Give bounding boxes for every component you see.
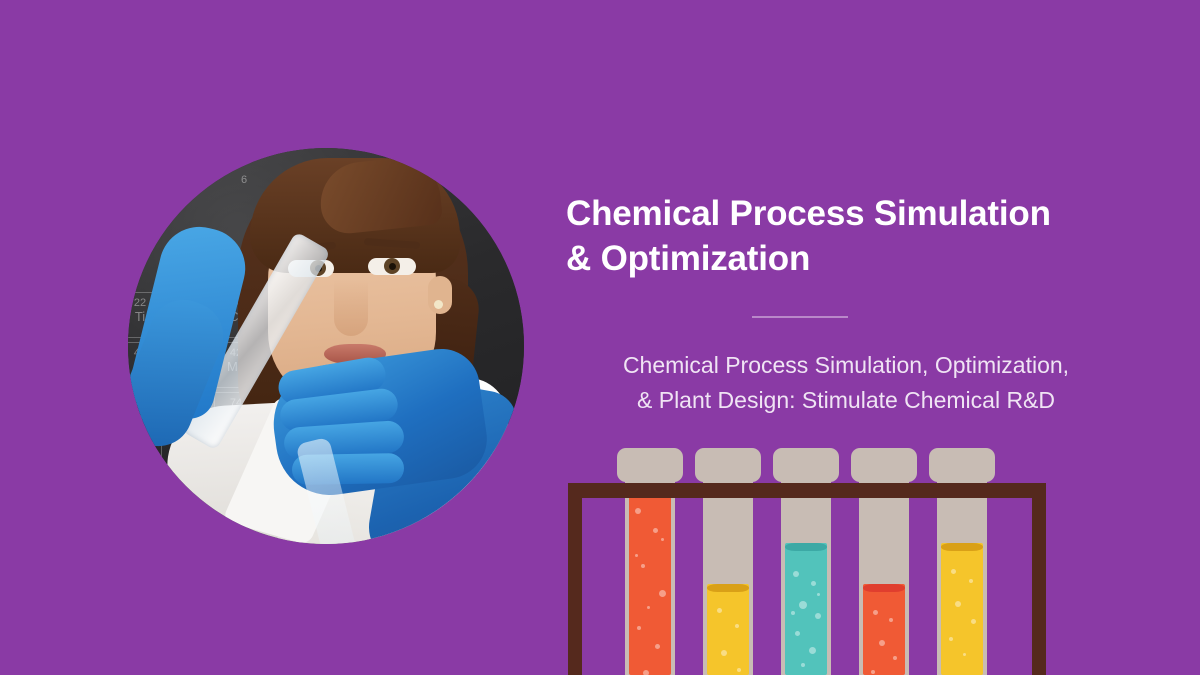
liquid-bubble (879, 640, 885, 646)
liquid-bubble (641, 564, 645, 568)
slide-canvas: 22Ti 23V 24Cr 40Zr 41Nb 42Mo 72Hf 73Ta 7… (0, 0, 1200, 675)
test-tube-lip (695, 448, 761, 482)
liquid-bubble (717, 608, 722, 613)
liquid-bubble (737, 668, 741, 672)
liquid-bubble (721, 650, 727, 656)
rack-horizontal-bar (568, 483, 1046, 498)
rack-right-post (1032, 483, 1046, 675)
liquid-surface (707, 584, 749, 592)
liquid-bubble (637, 626, 641, 630)
liquid-bubble (643, 670, 649, 675)
liquid-bubble (871, 670, 875, 674)
test-tube-lip (929, 448, 995, 482)
liquid-bubble (963, 653, 966, 656)
liquid-bubble (971, 619, 976, 624)
test-tube-lip (773, 448, 839, 482)
liquid-surface (863, 584, 905, 592)
test-tube-liquid (629, 484, 671, 675)
liquid-bubble (659, 590, 666, 597)
test-tube-rack (560, 440, 1060, 675)
test-tube-lip (617, 448, 683, 482)
liquid-bubble (873, 610, 878, 615)
liquid-bubble (815, 613, 821, 619)
liquid-bubble (647, 606, 650, 609)
liquid-bubble (735, 624, 739, 628)
pt-cell: 104 (128, 442, 162, 488)
liquid-surface (941, 543, 983, 551)
test-tube-lip (851, 448, 917, 482)
liquid-bubble (955, 601, 961, 607)
test-tube-liquid (785, 543, 827, 675)
rack-left-post (568, 483, 582, 675)
nose (334, 280, 368, 336)
earring (434, 300, 443, 309)
liquid-bubble (893, 656, 897, 660)
pupil-right (389, 263, 396, 270)
liquid-bubble (969, 579, 973, 583)
liquid-bubble (817, 593, 820, 596)
test-tube-liquid (941, 543, 983, 675)
test-tube-liquid (863, 584, 905, 675)
slide-subtitle: Chemical Process Simulation, Optimizatio… (566, 348, 1126, 419)
slide-title: Chemical Process Simulation & Optimizati… (566, 192, 1146, 282)
title-divider (752, 316, 848, 318)
liquid-bubble (635, 508, 641, 514)
test-tube-liquid (707, 584, 749, 675)
text-block: Chemical Process Simulation & Optimizati… (566, 192, 1146, 419)
liquid-bubble (799, 601, 807, 609)
liquid-bubble (661, 538, 664, 541)
liquid-bubble (811, 581, 816, 586)
liquid-bubble (951, 569, 956, 574)
liquid-bubble (801, 663, 805, 667)
liquid-bubble (655, 644, 660, 649)
liquid-bubble (653, 528, 658, 533)
liquid-bubble (793, 571, 799, 577)
liquid-bubble (809, 647, 816, 654)
liquid-bubble (949, 637, 953, 641)
liquid-bubble (635, 554, 638, 557)
liquid-bubble (795, 631, 800, 636)
liquid-bubble (889, 618, 893, 622)
liquid-surface (785, 543, 827, 551)
scientist-photo: 22Ti 23V 24Cr 40Zr 41Nb 42Mo 72Hf 73Ta 7… (128, 148, 524, 544)
liquid-bubble (791, 611, 795, 615)
